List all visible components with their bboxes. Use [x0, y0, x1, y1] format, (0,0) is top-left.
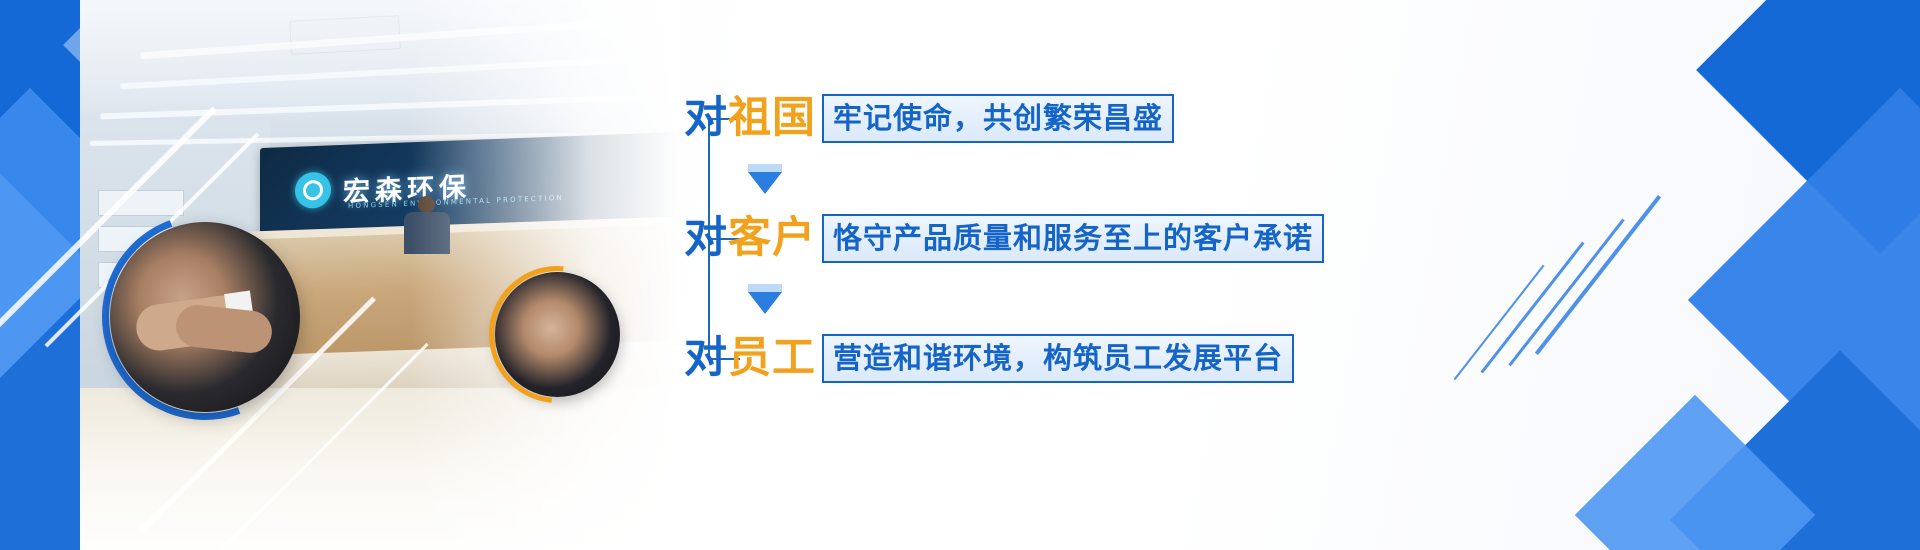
- slogan-label-key-1: 祖国: [728, 93, 816, 143]
- slogan-label-2: 对客户: [684, 208, 816, 268]
- slogan-box-3: 营造和谐环境，构筑员工发展平台: [822, 334, 1294, 383]
- slogan-statement-3: 营造和谐环境，构筑员工发展平台: [833, 341, 1283, 375]
- decorative-line-right: [1454, 265, 1545, 380]
- slogan-label-key-3: 员工: [728, 333, 816, 383]
- handshake-photo-circle: [110, 222, 300, 412]
- slogan-row-3: 对员工 营造和谐环境，构筑员工发展平台: [684, 328, 1294, 388]
- slogan-label-key-2: 客户: [728, 213, 816, 263]
- arrow-down-icon-2: [748, 292, 782, 314]
- arrow-down-icon-1: [748, 172, 782, 194]
- decorative-line-right: [1508, 219, 1624, 367]
- slogan-statement-2: 恪守产品质量和服务至上的客户承诺: [833, 221, 1313, 255]
- slogan-row-1: 对祖国 牢记使命，共创繁荣昌盛: [684, 88, 1174, 148]
- slogan-label-3: 对员工: [684, 328, 816, 388]
- slogan-box-1: 牢记使命，共创繁荣昌盛: [822, 94, 1174, 143]
- slogan-label-prefix-1: 对: [684, 93, 728, 143]
- hand-shape: [174, 303, 274, 355]
- slogan-block: 对祖国 牢记使命，共创繁荣昌盛 对客户 恪守产品质量和服务至上的客户承诺 对员工…: [650, 0, 1350, 550]
- slogan-row-2: 对客户 恪守产品质量和服务至上的客户承诺: [684, 208, 1324, 268]
- handshake-photo: [110, 222, 300, 412]
- arrow-down-icon-cap-2: [748, 284, 782, 292]
- slogan-box-2: 恪守产品质量和服务至上的客户承诺: [822, 214, 1324, 263]
- corporate-banner: 宏森环保 HONGSEN ENVIRONMENTAL PROTECTION: [0, 0, 1920, 550]
- slogan-label-prefix-2: 对: [684, 213, 728, 263]
- arrow-down-icon-cap-1: [748, 164, 782, 172]
- slogan-statement-1: 牢记使命，共创繁荣昌盛: [833, 101, 1163, 135]
- decorative-line-right: [1535, 195, 1661, 355]
- slogan-label-prefix-3: 对: [684, 333, 728, 383]
- slogan-label-1: 对祖国: [684, 88, 816, 148]
